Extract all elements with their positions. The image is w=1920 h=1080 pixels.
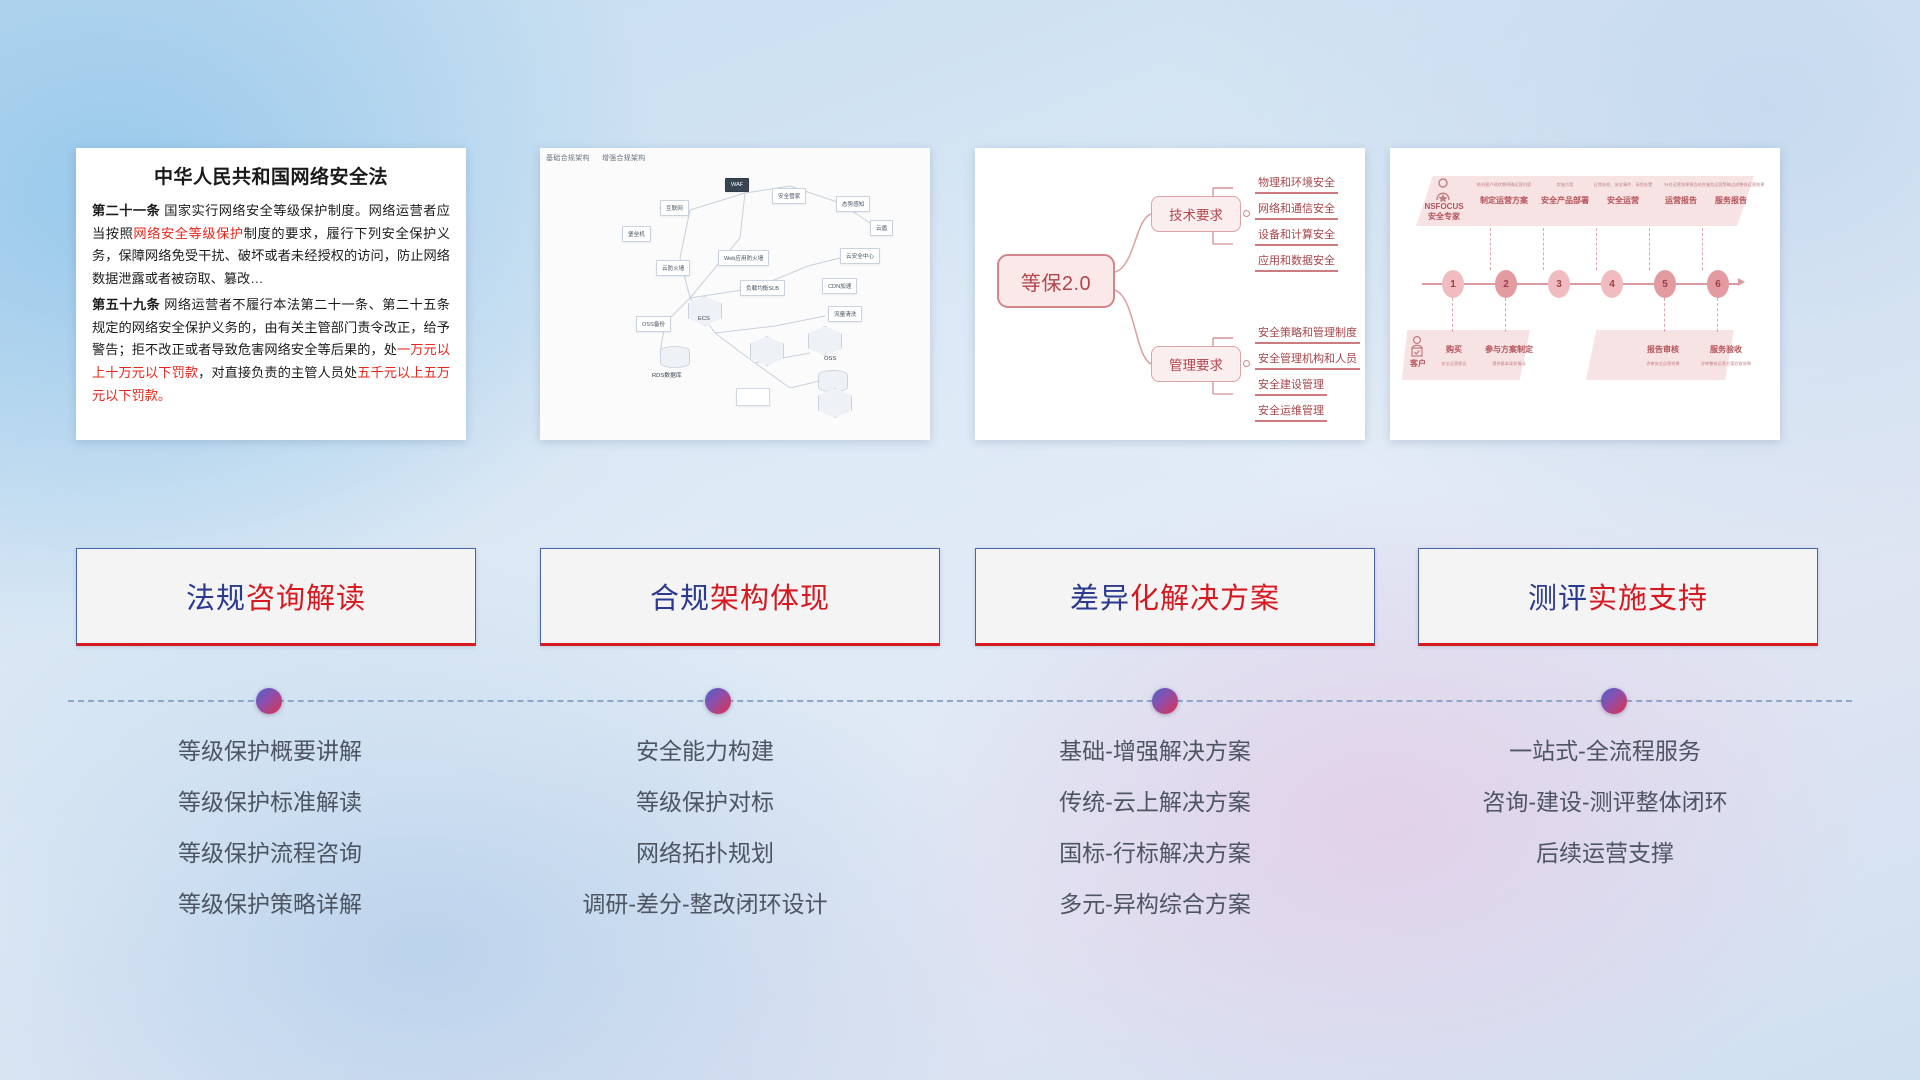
nsfocus-top-step-1: 结合客户现状需明确运营内容 制定运营方案: [1472, 182, 1536, 206]
law-title: 中华人民共和国网络安全法: [92, 162, 450, 189]
law-seg: ，对直接负责的主管人员处: [198, 365, 357, 380]
detail-item: 等级保护概要讲解: [55, 740, 485, 763]
detail-item: 调研-差分-整改闭环设计: [490, 893, 920, 916]
nsfocus-customer-role: 客户: [1402, 358, 1434, 369]
button-label-suffix: 实施支持: [1588, 583, 1708, 615]
nsfocus-top-step-note: 结合客户现状需明确运营内容: [1472, 182, 1536, 188]
card-cybersecurity-law[interactable]: 中华人民共和国网络安全法 第二十一条 国家实行网络安全等级保护制度。网络运营者应…: [76, 148, 466, 440]
nsfocus-node-4: 4: [1601, 270, 1623, 298]
card-mindmap-dengbao[interactable]: 等保2.0 技术要求 物理和环境安全 网络和通信安全 设备和计算安全 应用和数据…: [975, 148, 1365, 440]
nsfocus-expert-sub: 安全专家: [1418, 211, 1470, 222]
nsfocus-dash-connector: [1505, 298, 1506, 332]
button-label-prefix: 测评: [1528, 583, 1588, 615]
detail-item: 等级保护流程咨询: [55, 842, 485, 865]
mindmap-branch-management: 管理要求: [1151, 346, 1241, 382]
mindmap-leaf: 物理和环境安全: [1255, 174, 1338, 194]
nsfocus-dash-connector: [1717, 298, 1718, 332]
architecture-label-ecs: ECS: [698, 316, 710, 322]
nsfocus-bottom-step-title: 购买: [1432, 344, 1476, 355]
architecture-node-slb: 负载均衡SLB: [740, 280, 785, 296]
nsfocus-top-step-title: 服务报告: [1692, 195, 1770, 206]
nsfocus-dash-connector: [1543, 228, 1544, 270]
nsfocus-bottom-step-title: 报告审核: [1632, 344, 1694, 355]
nsfocus-dash-connector: [1664, 298, 1665, 332]
timeline-dashed-line: [68, 700, 1852, 702]
mindmap-leaf: 设备和计算安全: [1255, 226, 1338, 246]
button-evaluation-support[interactable]: 测评实施支持: [1418, 548, 1818, 646]
nsfocus-node-3: 3: [1548, 270, 1570, 298]
nsfocus-bottom-step-note: 提供基本现状情况: [1478, 361, 1540, 367]
architecture-node-situational: 态势感知: [836, 196, 870, 212]
nsfocus-bottom-step-2: 参与方案制定 提供基本现状情况: [1478, 344, 1540, 367]
image-cards-row: 中华人民共和国网络安全法 第二十一条 国家实行网络安全等级保护制度。网络运营者应…: [0, 148, 1920, 448]
timeline-dot-4[interactable]: [1601, 688, 1627, 714]
architecture-label-oss: OSS: [824, 356, 836, 362]
button-label-prefix: 合规: [650, 583, 710, 615]
detail-item: 等级保护策略详解: [55, 893, 485, 916]
architecture-shape-audit: [736, 388, 770, 406]
architecture-shape-rds: [660, 346, 690, 368]
detail-item: 传统-云上解决方案: [940, 791, 1370, 814]
detail-column-3: 基础-增强解决方案 传统-云上解决方案 国标-行标解决方案 多元-异构综合方案: [940, 740, 1370, 944]
mindmap-leaf: 安全管理机构和人员: [1255, 350, 1360, 370]
law-article-label-21: 第二十一条: [92, 203, 160, 218]
button-label: 测评实施支持: [1528, 575, 1708, 617]
nsfocus-dash-connector: [1490, 228, 1491, 270]
nsfocus-bottom-step-title: 服务验收: [1690, 344, 1762, 355]
mindmap-leaf: 应用和数据安全: [1255, 252, 1338, 272]
button-label-suffix: 咨询解读: [246, 583, 366, 615]
button-label: 差异化解决方案: [1070, 575, 1280, 617]
detail-columns-row: 等级保护概要讲解 等级保护标准解读 等级保护流程咨询 等级保护策略详解 安全能力…: [0, 740, 1920, 960]
nsfocus-top-step-note: 结合服务运营策略达成整体运营效果: [1692, 182, 1770, 188]
architecture-diagram: 基础合规架构增强合规架构 WAF 互联网 堡垒机: [540, 148, 930, 440]
nsfocus-node-1: 1: [1442, 270, 1464, 298]
detail-item: 基础-增强解决方案: [940, 740, 1370, 763]
detail-item: 等级保护对标: [490, 791, 920, 814]
architecture-node-traffic-scrub: 流量清洗: [828, 306, 862, 322]
detail-item: 咨询-建设-测评整体闭环: [1390, 791, 1820, 814]
detail-column-1: 等级保护概要讲解 等级保护标准解读 等级保护流程咨询 等级保护策略详解: [55, 740, 485, 944]
button-compliance-architecture[interactable]: 合规架构体现: [540, 548, 940, 646]
law-paragraph-21: 第二十一条 国家实行网络安全等级保护制度。网络运营者应当按照网络安全等级保护制度…: [92, 200, 450, 291]
mindmap-leaf: 安全策略和管理制度: [1255, 324, 1360, 344]
architecture-node-web-waf: Web应用防火墙: [718, 250, 769, 266]
button-label: 法规咨询解读: [186, 575, 366, 617]
mindmap-leaf: 网络和通信安全: [1255, 200, 1338, 220]
mindmap-branch-technical: 技术要求: [1151, 196, 1241, 232]
timeline-connector: [0, 688, 1920, 716]
detail-column-4: 一站式-全流程服务 咨询-建设-测评整体闭环 后续运营支撑: [1390, 740, 1820, 893]
architecture-node-highdefense-ip: 云盾: [870, 220, 893, 236]
nsfocus-customer-name: 客户: [1402, 358, 1434, 369]
timeline-dot-3[interactable]: [1152, 688, 1178, 714]
button-differentiated-solution[interactable]: 差异化解决方案: [975, 548, 1375, 646]
customer-person-icon: [1408, 336, 1426, 358]
detail-item: 多元-异构综合方案: [940, 893, 1370, 916]
detail-item: 等级保护标准解读: [55, 791, 485, 814]
mindmap-root: 等保2.0: [997, 254, 1115, 308]
nsfocus-dash-connector: [1702, 228, 1703, 270]
nsfocus-node-5: 5: [1654, 270, 1676, 298]
detail-item: 后续运营支撑: [1390, 842, 1820, 865]
nsfocus-dash-connector: [1649, 228, 1650, 270]
architecture-node-bastion: 堡垒机: [622, 226, 651, 242]
detail-item: 网络拓扑规划: [490, 842, 920, 865]
nsfocus-bottom-step-note: 评审整体运营方案验收效果: [1690, 361, 1762, 367]
mindmap-collapse-dot-management[interactable]: [1243, 360, 1250, 367]
mindmap: 等保2.0 技术要求 物理和环境安全 网络和通信安全 设备和计算安全 应用和数据…: [975, 148, 1365, 440]
architecture-label-rds: RDS数据库: [652, 370, 682, 379]
nsfocus-bottom-step-note: 安全运营报告: [1432, 361, 1476, 367]
architecture-node-cloud-security-center: 云安全中心: [840, 248, 880, 264]
law-card-content: 中华人民共和国网络安全法 第二十一条 国家实行网络安全等级保护制度。网络运营者应…: [76, 148, 466, 418]
nsfocus-top-step-5: 结合服务运营策略达成整体运营效果 服务报告: [1692, 182, 1770, 206]
mindmap-leaf: 安全运维管理: [1255, 402, 1327, 422]
nsfocus-bottom-step-title: 参与方案制定: [1478, 344, 1540, 355]
nsfocus-process-diagram: NSFOCUS 安全专家 结合客户现状需明确运营内容 制定运营方案 实施方案 安…: [1390, 148, 1780, 440]
architecture-node-cdn: CDN加速: [822, 278, 857, 294]
law-seg-highlight: 网络安全等级保护: [133, 226, 243, 241]
nsfocus-bottom-step-1: 购买 安全运营报告: [1432, 344, 1476, 367]
mindmap-collapse-dot-technical[interactable]: [1243, 210, 1250, 217]
button-label-prefix: 差异: [1070, 583, 1130, 615]
category-buttons-row: 法规咨询解读 合规架构体现 差异化解决方案 测评实施支持: [0, 548, 1920, 646]
card-nsfocus-process[interactable]: NSFOCUS 安全专家 结合客户现状需明确运营内容 制定运营方案 实施方案 安…: [1390, 148, 1780, 440]
architecture-node-firewall: 云防火墙: [656, 260, 690, 276]
architecture-node-security-butler: 安全管家: [772, 188, 806, 204]
nsfocus-node-6: 6: [1707, 270, 1729, 298]
card-compliance-architecture[interactable]: 基础合规架构增强合规架构 WAF 互联网 堡垒机: [540, 148, 930, 440]
law-article-label-59: 第五十九条: [92, 297, 160, 312]
button-regulation-consulting[interactable]: 法规咨询解读: [76, 548, 476, 646]
detail-item: 国标-行标解决方案: [940, 842, 1370, 865]
law-paragraph-59: 第五十九条 网络运营者不履行本法第二十一条、第二十五条规定的网络安全保护义务的，…: [92, 294, 450, 408]
mindmap-leaf: 安全建设管理: [1255, 376, 1327, 396]
detail-column-2: 安全能力构建 等级保护对标 网络拓扑规划 调研-差分-整改闭环设计: [490, 740, 920, 944]
nsfocus-top-step-title: 制定运营方案: [1472, 195, 1536, 206]
detail-item: 一站式-全流程服务: [1390, 740, 1820, 763]
architecture-node-waf: WAF: [725, 178, 749, 192]
nsfocus-axis-line: [1422, 283, 1740, 285]
nsfocus-axis-arrow-icon: [1738, 278, 1745, 286]
nsfocus-bottom-step-4: 服务验收 评审整体运营方案验收效果: [1690, 344, 1762, 367]
architecture-node-internet: 互联网: [660, 200, 689, 216]
nsfocus-bottom-step-3: 报告审核 评审安全运营效果: [1632, 344, 1694, 367]
detail-item: 安全能力构建: [490, 740, 920, 763]
button-label: 合规架构体现: [650, 575, 830, 617]
nsfocus-bottom-step-note: 评审安全运营效果: [1632, 361, 1694, 367]
nsfocus-dash-connector: [1596, 228, 1597, 270]
button-label-suffix: 化解决方案: [1130, 583, 1280, 615]
nsfocus-dash-connector: [1452, 298, 1453, 332]
nsfocus-node-2: 2: [1495, 270, 1517, 298]
button-label-suffix: 架构体现: [710, 583, 830, 615]
timeline-dot-1[interactable]: [256, 688, 282, 714]
expert-person-icon: [1432, 178, 1454, 202]
architecture-node-oss-backup: OSS备份: [636, 316, 671, 332]
nsfocus-expert-role: NSFOCUS 安全专家: [1418, 202, 1470, 222]
architecture-shape-oss: [818, 370, 848, 392]
timeline-dot-2[interactable]: [705, 688, 731, 714]
nsfocus-expert-name: NSFOCUS: [1418, 202, 1470, 211]
button-label-prefix: 法规: [186, 583, 246, 615]
